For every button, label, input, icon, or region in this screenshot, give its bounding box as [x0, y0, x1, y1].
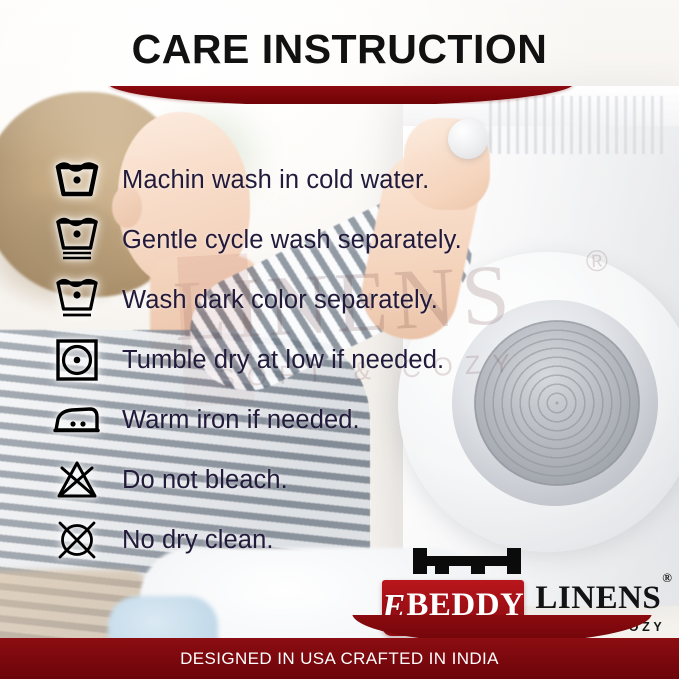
list-item-label: Do not bleach. — [122, 466, 288, 495]
gentle-cycle-wash-icon — [46, 214, 108, 266]
list-item: Do not bleach. — [46, 450, 646, 510]
brand-name-linens: LINENS® — [535, 582, 671, 615]
list-item-label: Warm iron if needed. — [122, 406, 360, 435]
list-item: Wash dark color separately. — [46, 270, 646, 330]
registered-trademark-icon: ® — [662, 570, 672, 585]
list-item: Tumble dry at low if needed. — [46, 330, 646, 390]
tumble-dry-low-icon — [46, 334, 108, 386]
bed-icon — [411, 546, 523, 576]
brand-linens-text: LINENS — [535, 580, 661, 616]
footer-banner: DESIGNED IN USA CRAFTED IN INDIA — [0, 638, 679, 679]
list-item: Gentle cycle wash separately. — [46, 210, 646, 270]
care-instruction-list: Machin wash in cold water. Gentle cycle … — [46, 150, 646, 570]
list-item: Warm iron if needed. — [46, 390, 646, 450]
do-not-bleach-icon — [46, 454, 108, 506]
list-item-label: Gentle cycle wash separately. — [122, 226, 462, 255]
list-item-label: Tumble dry at low if needed. — [122, 346, 444, 375]
care-instruction-card: LINENS SOFT & COZY ® CARE INSTRUCTION Ma… — [0, 0, 679, 679]
page-title: CARE INSTRUCTION — [0, 26, 679, 73]
title-underline-swoosh — [108, 86, 574, 104]
list-item-label: No dry clean. — [122, 526, 274, 555]
list-item-label: Machin wash in cold water. — [122, 166, 429, 195]
warm-iron-icon — [46, 394, 108, 446]
list-item-label: Wash dark color separately. — [122, 286, 438, 315]
list-item: Machin wash in cold water. — [46, 150, 646, 210]
footer-text: DESIGNED IN USA CRAFTED IN INDIA — [180, 649, 499, 669]
machine-wash-icon — [46, 154, 108, 206]
list-item: No dry clean. — [46, 510, 646, 570]
no-dry-clean-icon — [46, 514, 108, 566]
permanent-press-wash-icon — [46, 274, 108, 326]
